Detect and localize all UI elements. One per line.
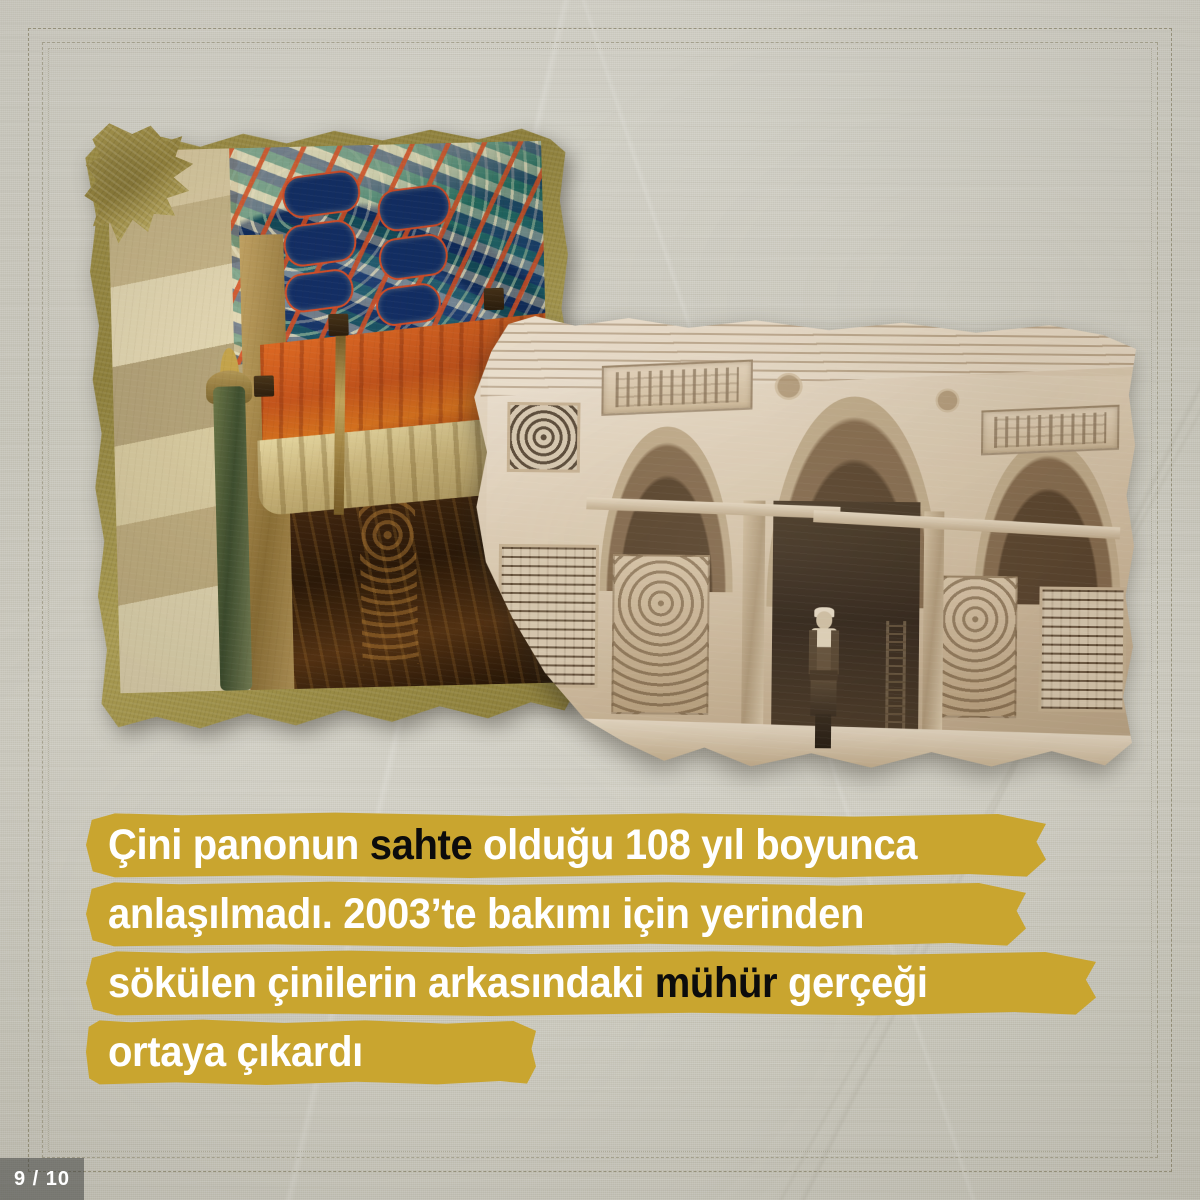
caption-line: sökülen çinilerin arkasındaki mühür gerç… bbox=[86, 950, 1116, 1016]
archive-photo-image bbox=[464, 315, 1137, 780]
caption-text: ortaya çıkardı bbox=[108, 1019, 363, 1085]
caption-block: Çini panonun sahte olduğu 108 yıl boyunc… bbox=[86, 812, 1116, 1088]
photo-aging-overlay bbox=[464, 315, 1137, 780]
caption-text-run: gerçeği bbox=[777, 959, 927, 1007]
caption-text-run: olduğu 108 yıl boyunca bbox=[472, 821, 917, 869]
caption-line: anlaşılmadı. 2003’te bakımı için yerinde… bbox=[86, 881, 1116, 947]
caption-line: ortaya çıkardı bbox=[86, 1019, 1116, 1085]
caption-emphasis-word: mühür bbox=[655, 959, 778, 1007]
historic-mosque-portico-photo bbox=[464, 315, 1137, 780]
caption-text: sökülen çinilerin arkasındaki mühür gerç… bbox=[108, 950, 928, 1016]
caption-text-run: Çini panonun bbox=[108, 821, 370, 869]
caption-text: anlaşılmadı. 2003’te bakımı için yerinde… bbox=[108, 881, 864, 947]
caption-emphasis-word: sahte bbox=[370, 821, 473, 869]
caption-text-run: ortaya çıkardı bbox=[108, 1028, 363, 1076]
slide-canvas: Çini panonun sahte olduğu 108 yıl boyunc… bbox=[0, 0, 1200, 1200]
page-counter-label: 9 / 10 bbox=[14, 1168, 70, 1191]
caption-text-run: sökülen çinilerin arkasındaki bbox=[108, 959, 655, 1007]
page-counter: 9 / 10 bbox=[0, 1158, 84, 1200]
caption-text: Çini panonun sahte olduğu 108 yıl boyunc… bbox=[108, 812, 917, 878]
caption-line: Çini panonun sahte olduğu 108 yıl boyunc… bbox=[86, 812, 1116, 878]
caption-text-run: anlaşılmadı. 2003’te bakımı için yerinde… bbox=[108, 890, 864, 938]
